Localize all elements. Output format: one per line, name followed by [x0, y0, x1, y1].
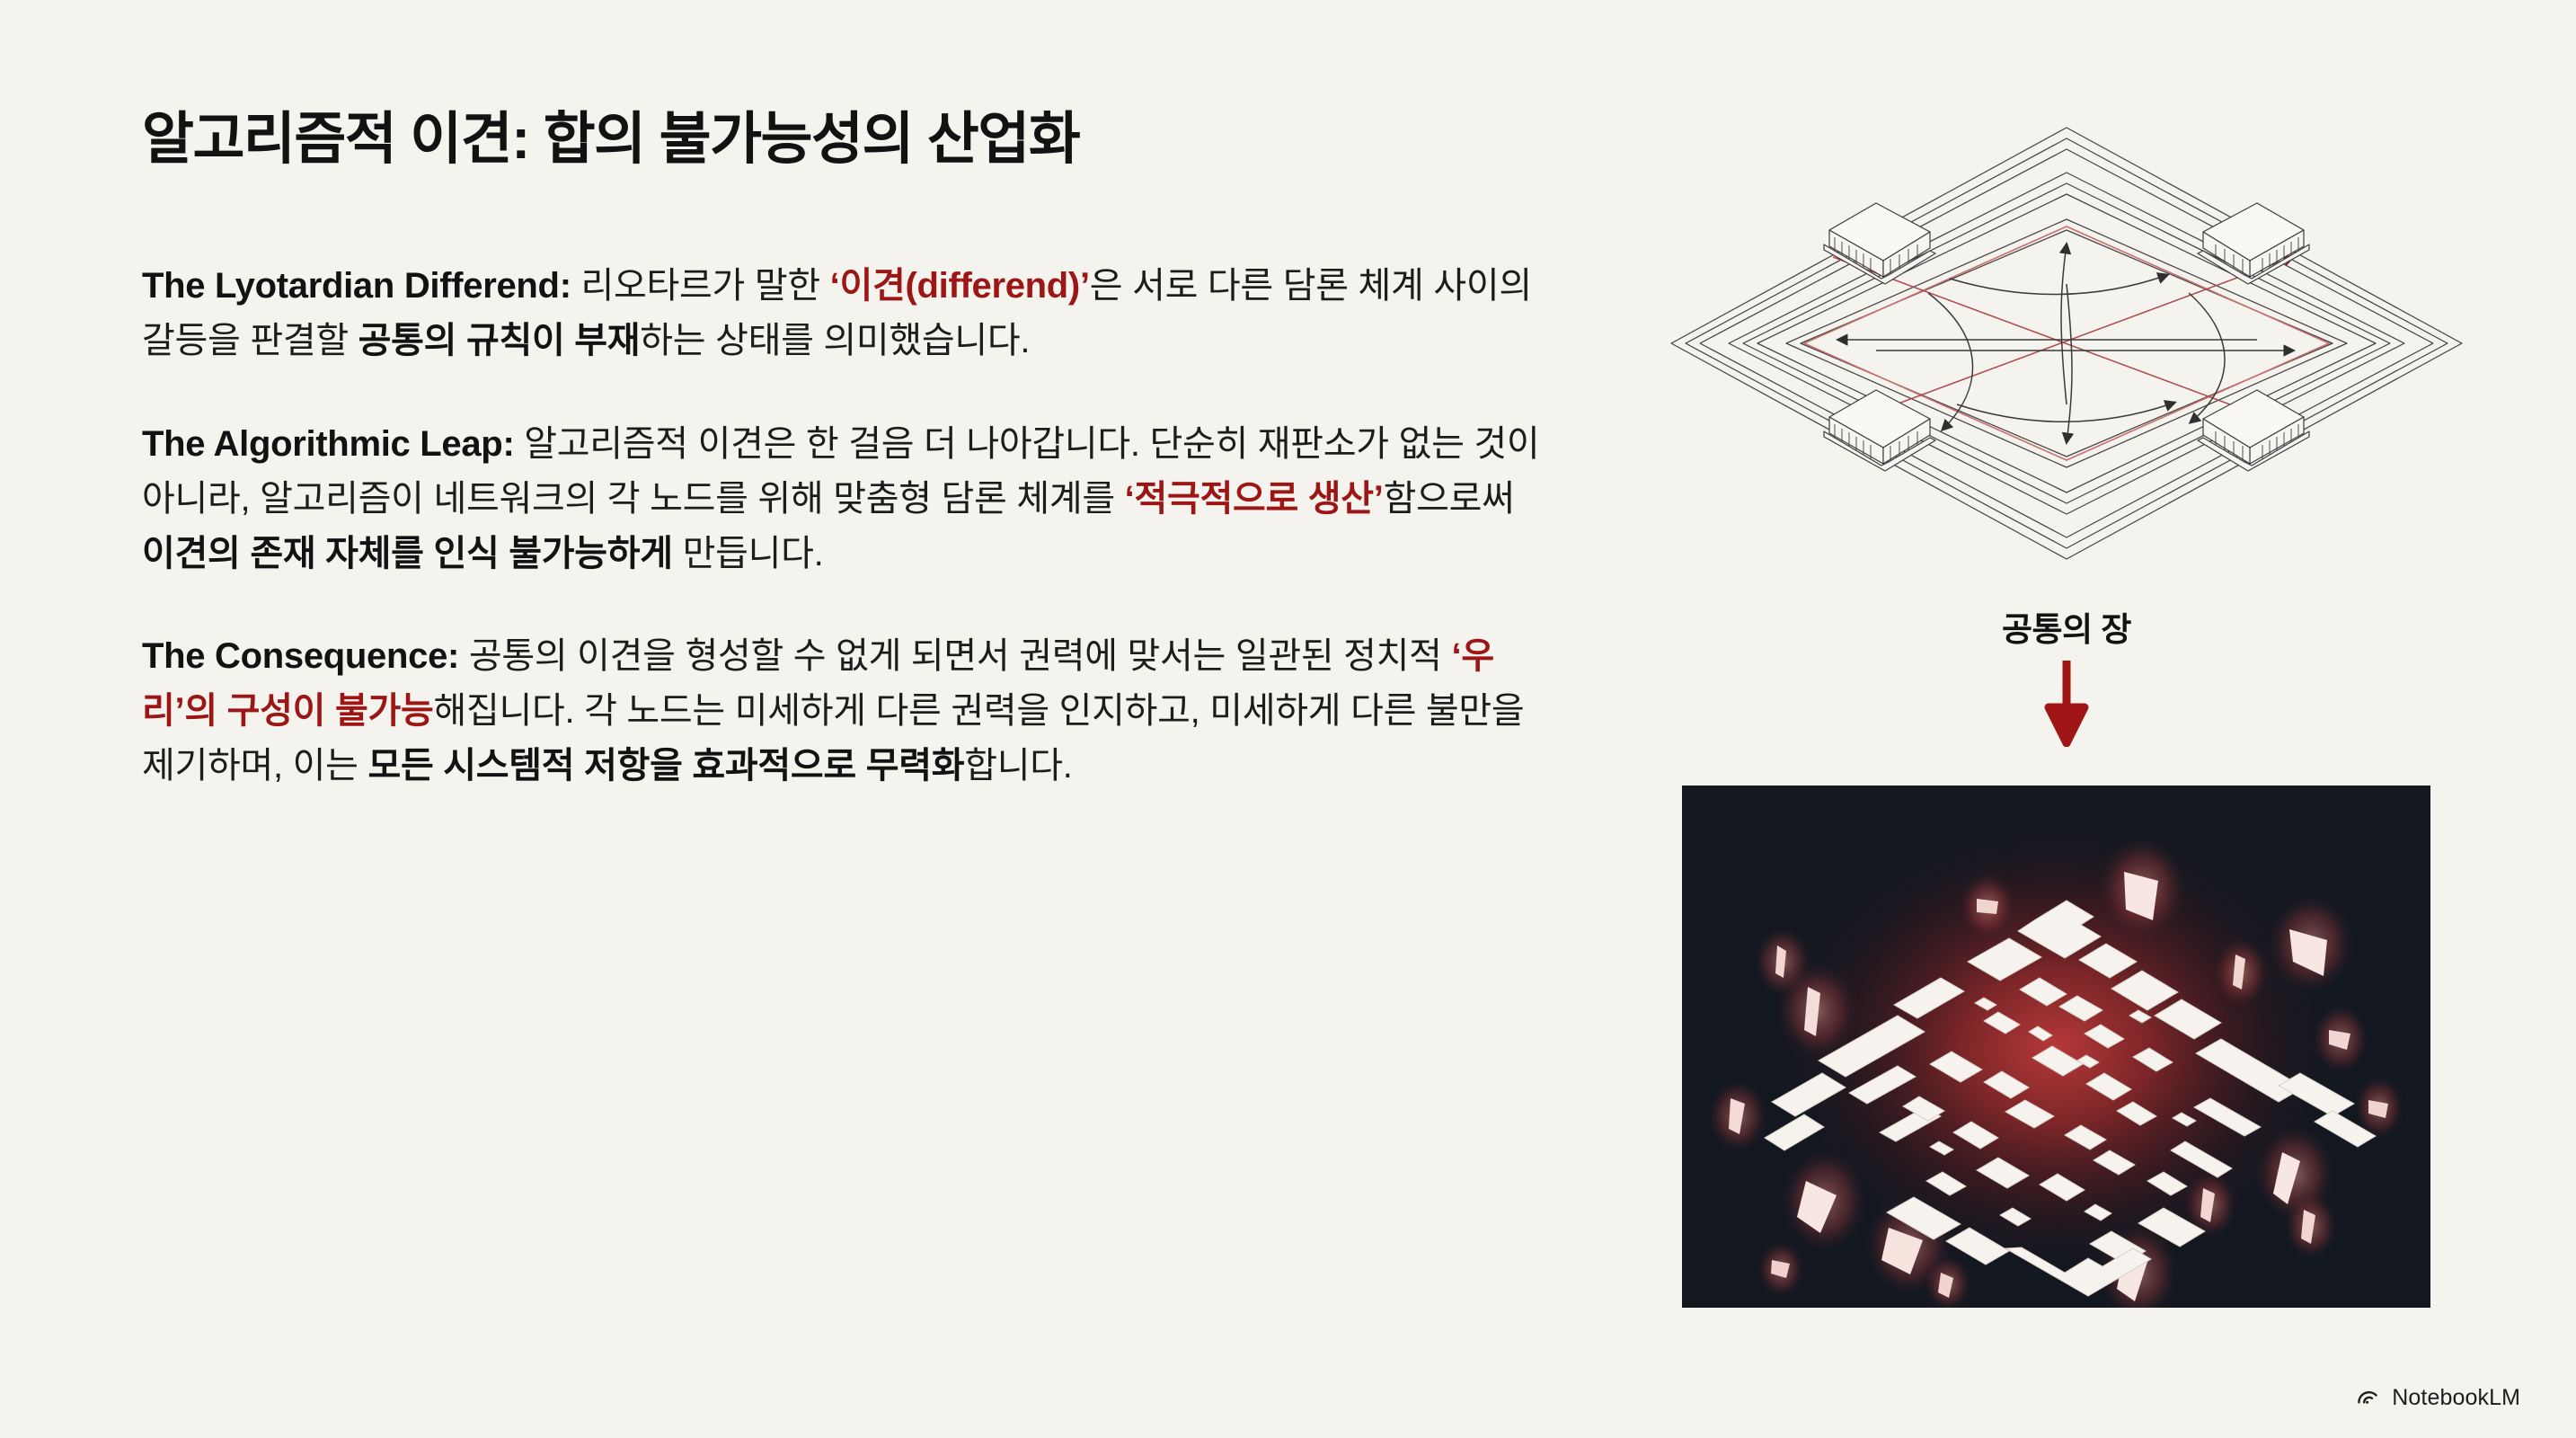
figure-column: 공통의 장: [1617, 99, 2516, 1375]
paragraph-lyotardian-differend: The Lyotardian Differend: 리오타르가 말한 ‘이견(d…: [142, 259, 1544, 368]
notebooklm-icon: [2356, 1382, 2382, 1413]
paragraph-consequence: The Consequence: 공통의 이견을 형성할 수 없게 되면서 권력…: [142, 629, 1544, 793]
segment: 함으로써: [1384, 479, 1515, 519]
segment: 공통의 이견을 형성할 수 없게 되면서 권력에 맞서는 일관된 정치적: [459, 636, 1451, 676]
paragraph-lead: The Algorithmic Leap:: [142, 424, 514, 464]
segment-bold: 이견의 존재 자체를 인식 불가능하게: [142, 534, 673, 573]
paragraph-lead: The Lyotardian Differend:: [142, 266, 571, 306]
down-arrow-icon: [1617, 661, 2516, 747]
segment-bold: 공통의 규칙이 부재: [359, 321, 641, 360]
segment-bold: 모든 시스템적 저항을 효과적으로 무력화: [367, 746, 964, 786]
figure-label-common-field: 공통의 장: [1617, 602, 2516, 651]
segment: 합니다.: [964, 746, 1072, 786]
segment: 만듭니다.: [673, 534, 824, 573]
notebooklm-branding: NotebookLM: [2356, 1382, 2520, 1413]
body-text: The Lyotardian Differend: 리오타르가 말한 ‘이견(d…: [142, 259, 1544, 793]
slide-canvas: 알고리즘적 이견: 합의 불가능성의 산업화 The Lyotardian Di…: [0, 0, 2576, 1438]
segment: 하는 상태를 의미했습니다.: [640, 321, 1030, 360]
segment: 리오타르가 말한: [571, 266, 830, 306]
content-column: 알고리즘적 이견: 합의 불가능성의 산업화 The Lyotardian Di…: [142, 106, 1544, 794]
notebooklm-wordmark: NotebookLM: [2392, 1385, 2520, 1411]
isometric-agora-diagram: [1653, 108, 2480, 575]
segment-highlight: ‘적극적으로 생산’: [1125, 479, 1384, 519]
shattered-field-panel: [1682, 786, 2430, 1308]
paragraph-algorithmic-leap: The Algorithmic Leap: 알고리즘적 이견은 한 걸음 더 나…: [142, 417, 1544, 581]
segment-highlight: ‘이견(differend)’: [830, 266, 1090, 306]
paragraph-lead: The Consequence:: [142, 636, 459, 676]
page-title: 알고리즘적 이견: 합의 불가능성의 산업화: [142, 106, 1544, 173]
